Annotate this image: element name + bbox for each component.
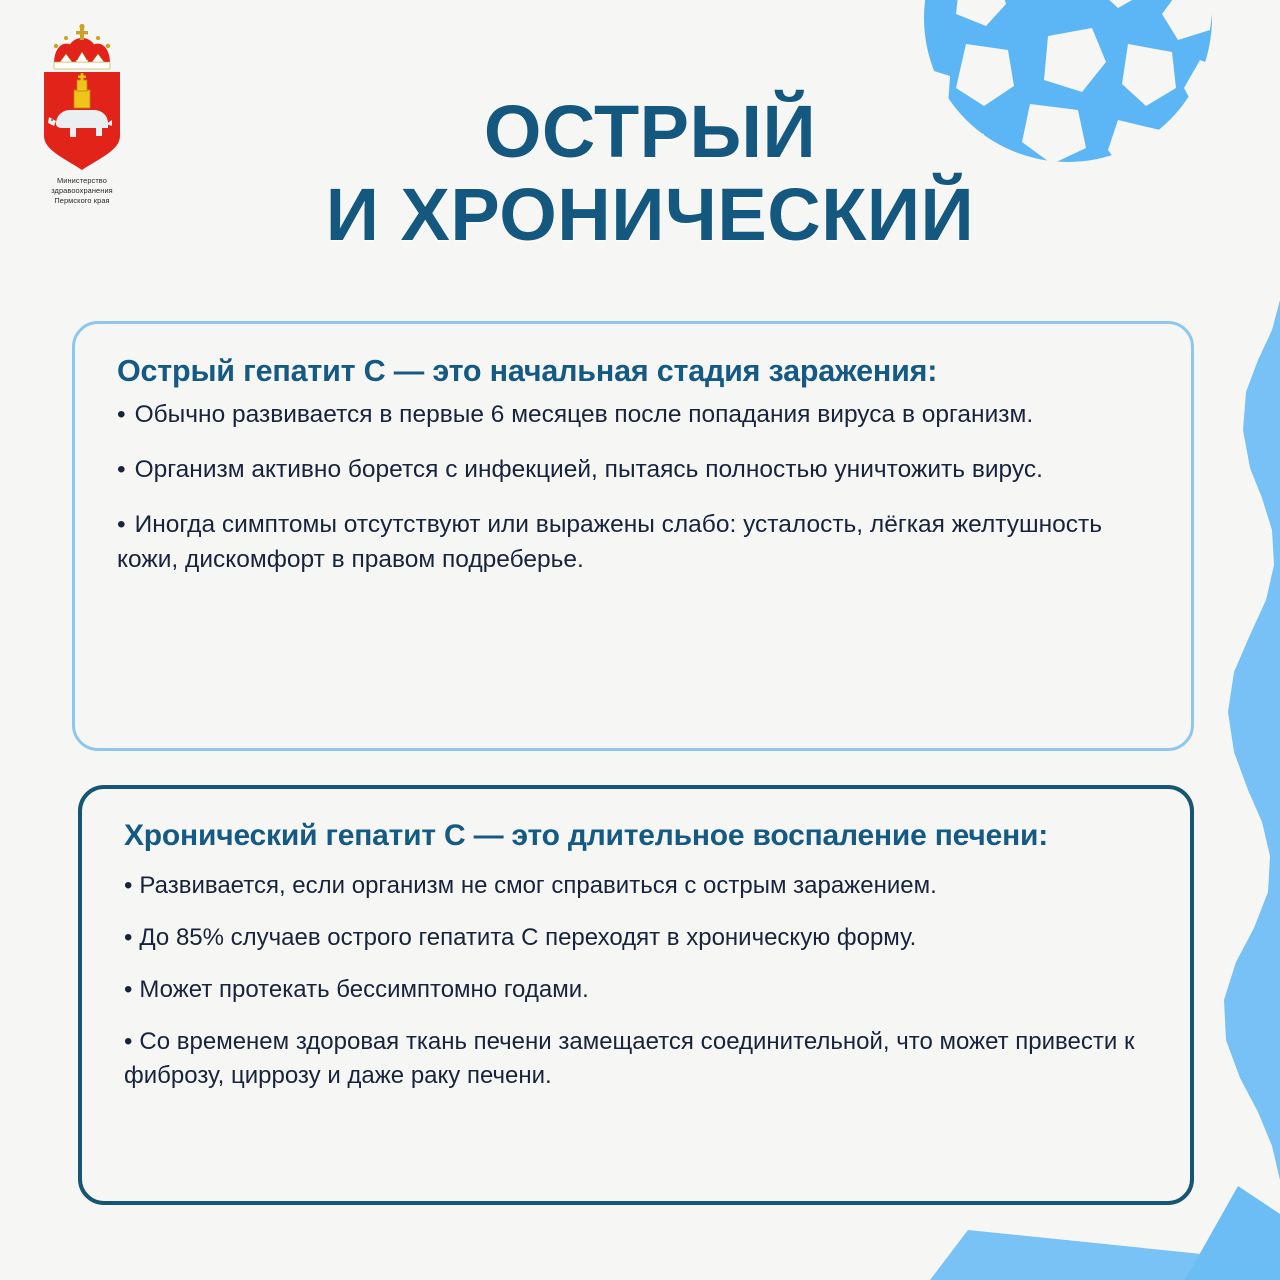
- bullet-dot-icon: •: [124, 921, 132, 955]
- list-item-text: Иногда симптомы отсутствуют или выражены…: [117, 511, 1102, 573]
- list-item: •Развивается, если организм не смог спра…: [124, 869, 1150, 903]
- angular-band-shape-lower: [930, 1230, 1280, 1280]
- bullet-dot-icon: •: [117, 508, 126, 543]
- card-chronic-heading: Хронический гепатит С — это длительное в…: [124, 817, 1150, 855]
- bullet-dot-icon: •: [117, 453, 126, 488]
- card-acute-hepatitis: Острый гепатит С — это начальная стадия …: [72, 321, 1194, 751]
- list-item-text: Обычно развивается в первые 6 месяцев по…: [135, 401, 1034, 428]
- bullet-dot-icon: •: [117, 398, 126, 433]
- poster-canvas: Министерство здравоохранения Пермского к…: [0, 0, 1280, 1280]
- page-title: ОСТРЫЙ И ХРОНИЧЕСКИЙ: [300, 96, 1000, 251]
- bullet-dot-icon: •: [124, 869, 132, 903]
- ministry-logo-caption: Министерство здравоохранения Пермского к…: [22, 176, 142, 207]
- list-item-text: Может протекать бессимптомно годами.: [139, 976, 588, 1003]
- list-item-text: Организм активно борется с инфекцией, пы…: [135, 456, 1043, 483]
- card-acute-bullet-list: •Обычно развивается в первые 6 месяцев п…: [117, 398, 1151, 577]
- page-title-line-1: ОСТРЫЙ: [300, 96, 1000, 169]
- list-item: •Организм активно борется с инфекцией, п…: [117, 453, 1151, 488]
- list-item: •Обычно развивается в первые 6 месяцев п…: [117, 398, 1151, 433]
- logo-caption-line-2: здравоохранения: [22, 186, 142, 196]
- logo-caption-line-3: Пермского края: [22, 196, 142, 206]
- logo-caption-line-1: Министерство: [22, 176, 142, 186]
- card-chronic-bullet-list: •Развивается, если организм не смог спра…: [124, 869, 1150, 1093]
- bullet-dot-icon: •: [124, 973, 132, 1007]
- list-item-text: До 85% случаев острого гепатита С перехо…: [139, 924, 916, 951]
- wavy-ribbon-shape: [1224, 0, 1280, 1280]
- list-item: •Иногда симптомы отсутствуют или выражен…: [117, 508, 1151, 578]
- page-title-line-2: И ХРОНИЧЕСКИЙ: [300, 179, 1000, 252]
- list-item-text: Со временем здоровая ткань печени замеща…: [124, 1028, 1134, 1089]
- list-item-text: Развивается, если организм не смог справ…: [139, 872, 936, 899]
- list-item: •Может протекать бессимптомно годами.: [124, 973, 1150, 1007]
- perm-krai-coat-of-arms-icon: [36, 24, 128, 174]
- list-item: •До 85% случаев острого гепатита С перех…: [124, 921, 1150, 955]
- list-item: •Со временем здоровая ткань печени замещ…: [124, 1025, 1150, 1093]
- card-acute-heading: Острый гепатит С — это начальная стадия …: [117, 352, 1151, 390]
- card-chronic-hepatitis: Хронический гепатит С — это длительное в…: [78, 785, 1194, 1205]
- angular-band-shape: [1185, 1186, 1280, 1280]
- ministry-logo: Министерство здравоохранения Пермского к…: [22, 24, 142, 207]
- bullet-dot-icon: •: [124, 1025, 132, 1059]
